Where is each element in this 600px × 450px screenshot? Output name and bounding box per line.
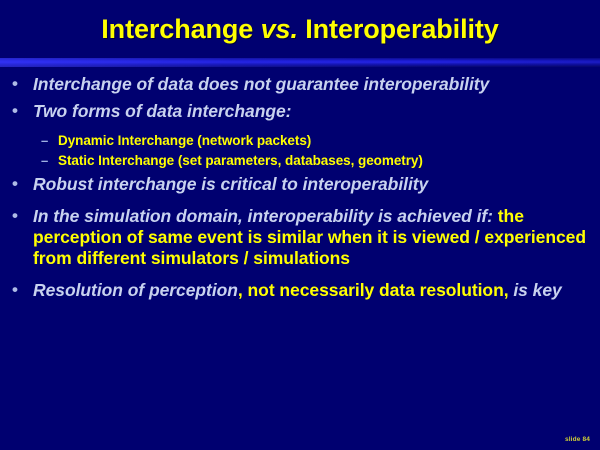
bullet-list: •Interchange of data does not guarantee … bbox=[0, 74, 600, 307]
text-run: Static Interchange (set parameters, data… bbox=[58, 153, 423, 168]
bullet-marker-icon: • bbox=[10, 280, 33, 300]
page-title: Interchange vs. Interoperability bbox=[101, 16, 498, 43]
bullet-marker-icon: • bbox=[10, 174, 33, 194]
title-part-1: Interchange bbox=[101, 14, 260, 44]
sub-bullet-item: –Static Interchange (set parameters, dat… bbox=[0, 153, 600, 169]
text-run: Dynamic Interchange (network packets) bbox=[58, 133, 311, 148]
title-emphasis: vs. bbox=[261, 14, 298, 44]
bullet-text: Static Interchange (set parameters, data… bbox=[58, 153, 600, 169]
text-run: Robust interchange is critical to intero… bbox=[33, 174, 428, 194]
bullet-text: Robust interchange is critical to intero… bbox=[33, 174, 600, 195]
bullet-item: •Robust interchange is critical to inter… bbox=[0, 174, 600, 195]
sub-bullet-item: –Dynamic Interchange (network packets) bbox=[0, 133, 600, 149]
bullet-text: In the simulation domain, interoperabili… bbox=[33, 206, 600, 269]
text-run: Two forms of data interchange: bbox=[33, 101, 291, 121]
text-run: In the simulation domain, interoperabili… bbox=[33, 206, 493, 226]
bullet-item: •In the simulation domain, interoperabil… bbox=[0, 206, 600, 269]
bullet-text: Two forms of data interchange: bbox=[33, 101, 600, 122]
bullet-marker-icon: • bbox=[10, 206, 33, 226]
title-divider-bar bbox=[0, 58, 600, 67]
bullet-marker-icon: • bbox=[10, 74, 33, 94]
text-run: Resolution of perception bbox=[33, 280, 238, 300]
bullet-text: Resolution of perception, not necessaril… bbox=[33, 280, 600, 301]
bullet-item: •Two forms of data interchange: bbox=[0, 101, 600, 122]
dash-marker-icon: – bbox=[41, 133, 58, 148]
bullet-text: Interchange of data does not guarantee i… bbox=[33, 74, 600, 95]
bullet-item: •Interchange of data does not guarantee … bbox=[0, 74, 600, 95]
slide-footer: slide 84 bbox=[565, 436, 590, 443]
text-run: Interchange of data does not guarantee i… bbox=[33, 74, 489, 94]
dash-marker-icon: – bbox=[41, 153, 58, 168]
slide-canvas: Interchange vs. Interoperability •Interc… bbox=[0, 0, 600, 450]
bullet-text: Dynamic Interchange (network packets) bbox=[58, 133, 600, 149]
slide-title-area: Interchange vs. Interoperability bbox=[0, 0, 600, 58]
text-run: , not necessarily data resolution, bbox=[238, 280, 509, 300]
title-part-2: Interoperability bbox=[298, 14, 499, 44]
bullet-marker-icon: • bbox=[10, 101, 33, 121]
text-run: is key bbox=[509, 280, 562, 300]
bullet-item: •Resolution of perception, not necessari… bbox=[0, 280, 600, 301]
